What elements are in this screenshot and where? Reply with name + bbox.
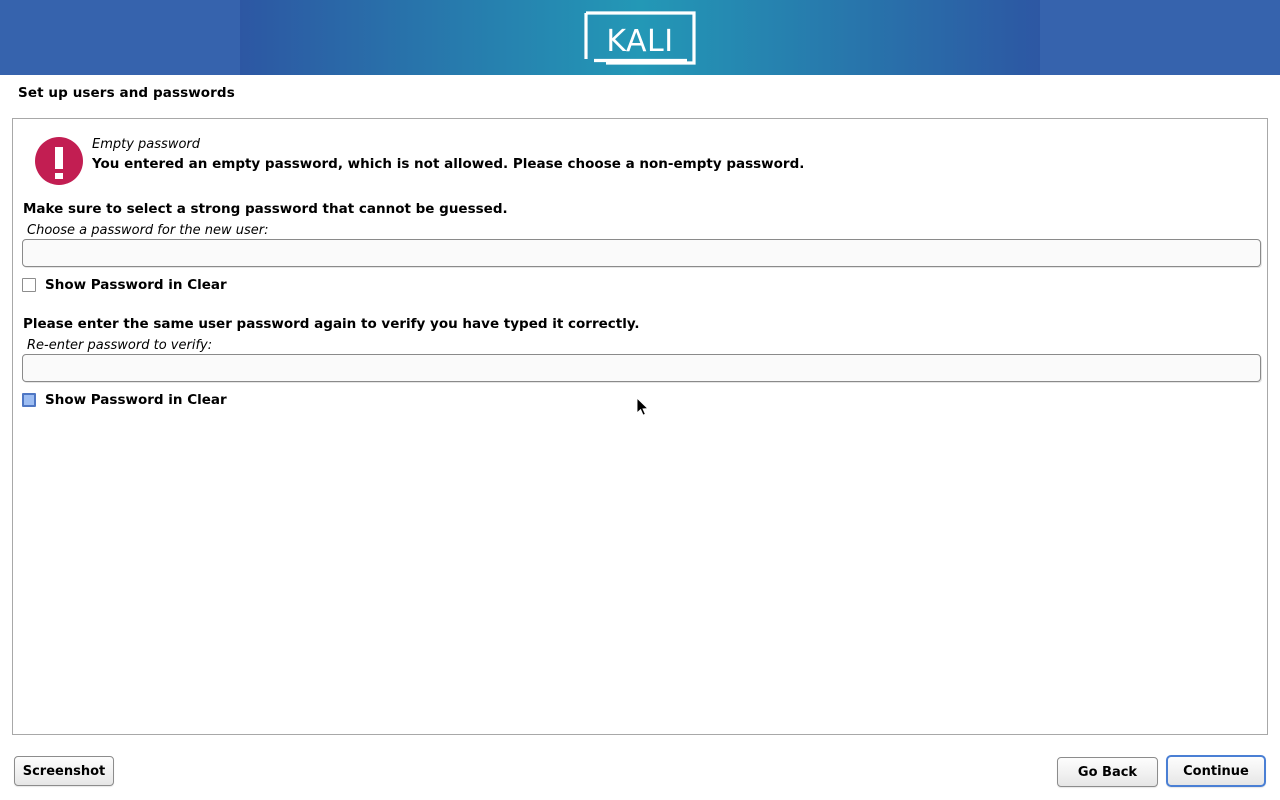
exclamation-icon — [35, 137, 83, 185]
verify-password-input[interactable] — [22, 354, 1261, 382]
continue-button[interactable]: Continue — [1166, 755, 1266, 787]
password-field-label: Choose a password for the new user: — [27, 223, 269, 238]
show-password-checkbox-1[interactable] — [22, 278, 36, 292]
show-password-checkbox-row-2[interactable]: Show Password in Clear — [22, 391, 227, 409]
error-message: You entered an empty password, which is … — [92, 156, 804, 172]
footer-toolbar: Screenshot Go Back Continue — [0, 735, 1280, 800]
go-back-button[interactable]: Go Back — [1057, 757, 1158, 787]
show-password-checkbox-label-1: Show Password in Clear — [45, 277, 227, 293]
page-title: Set up users and passwords — [18, 85, 235, 101]
kali-banner: KALI — [0, 0, 1280, 75]
exclamation-dot — [55, 173, 63, 179]
exclamation-bar — [55, 147, 63, 169]
password-input[interactable] — [22, 239, 1261, 267]
verify-field-label: Re-enter password to verify: — [27, 338, 212, 353]
show-password-checkbox-2[interactable] — [22, 393, 36, 407]
kali-logo: KALI — [583, 10, 697, 66]
error-banner: Empty password You entered an empty pass… — [23, 129, 1259, 191]
kali-logo-text: KALI — [606, 24, 673, 59]
screenshot-button[interactable]: Screenshot — [14, 756, 114, 786]
error-title: Empty password — [92, 137, 200, 152]
show-password-checkbox-row-1[interactable]: Show Password in Clear — [22, 276, 227, 294]
verify-instruction: Please enter the same user password agai… — [23, 316, 640, 332]
content-panel: Empty password You entered an empty pass… — [12, 118, 1268, 735]
password-instruction: Make sure to select a strong password th… — [23, 201, 508, 217]
show-password-checkbox-label-2: Show Password in Clear — [45, 392, 227, 408]
